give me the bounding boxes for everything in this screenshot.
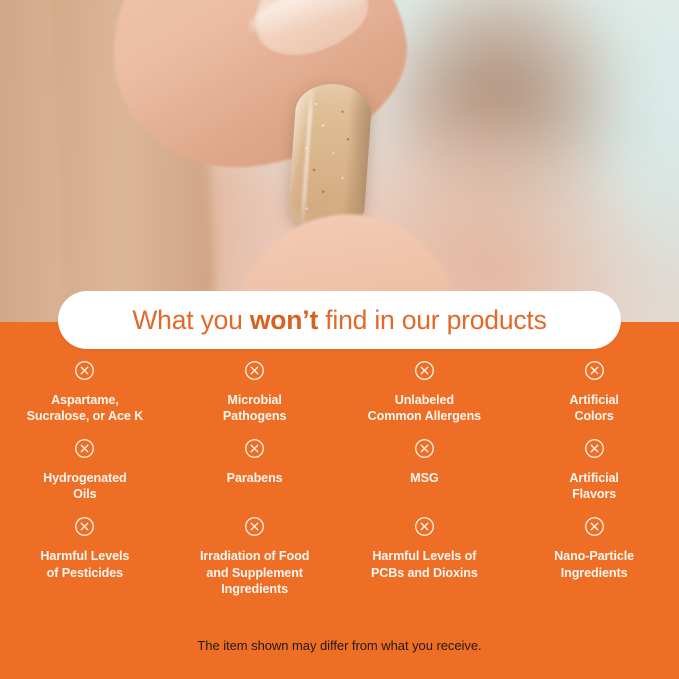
claim-label: Microbial Pathogens	[223, 392, 286, 424]
claim-item: MSG	[340, 438, 510, 502]
claim-label: Harmful Levels of Pesticides	[40, 548, 129, 580]
product-claims-screen: What you won’t find in our products Aspa…	[0, 0, 679, 679]
circle-x-icon	[414, 516, 435, 537]
claim-label: Unlabeled Common Allergens	[368, 392, 481, 424]
circle-x-icon	[74, 360, 95, 381]
claim-item: Microbial Pathogens	[170, 360, 340, 424]
supplement-tablet	[287, 82, 373, 237]
title-banner: What you won’t find in our products	[58, 291, 621, 349]
circle-x-icon	[74, 516, 95, 537]
page-title: What you won’t find in our products	[132, 307, 546, 334]
title-text-emphasis: won’t	[250, 305, 318, 335]
claim-label: MSG	[410, 470, 438, 486]
title-text-trailing: find in our products	[318, 305, 547, 335]
hero-photo	[0, 0, 679, 322]
disclaimer-text: The item shown may differ from what you …	[0, 638, 679, 653]
claim-label: Irradiation of Food and Supplement Ingre…	[200, 548, 309, 596]
circle-x-icon	[584, 360, 605, 381]
title-text-leading: What you	[132, 305, 250, 335]
claim-item: Artificial Flavors	[509, 438, 679, 502]
claim-item: Artificial Colors	[509, 360, 679, 424]
circle-x-icon	[244, 516, 265, 537]
claim-item: Aspartame, Sucralose, or Ace K	[0, 360, 170, 424]
claim-item: Harmful Levels of Pesticides	[0, 516, 170, 596]
circle-x-icon	[584, 438, 605, 459]
claim-label: Artificial Flavors	[569, 470, 618, 502]
claim-label: Parabens	[227, 470, 283, 486]
circle-x-icon	[414, 360, 435, 381]
claim-item: Nano-Particle Ingredients	[509, 516, 679, 596]
claim-label: Artificial Colors	[569, 392, 618, 424]
claim-label: Aspartame, Sucralose, or Ace K	[27, 392, 144, 424]
circle-x-icon	[244, 438, 265, 459]
claim-item: Unlabeled Common Allergens	[340, 360, 510, 424]
claim-label: Harmful Levels of PCBs and Dioxins	[371, 548, 478, 580]
claim-label: Hydrogenated Oils	[43, 470, 126, 502]
claim-label: Nano-Particle Ingredients	[554, 548, 634, 580]
claim-item: Harmful Levels of PCBs and Dioxins	[340, 516, 510, 596]
claim-item: Hydrogenated Oils	[0, 438, 170, 502]
circle-x-icon	[244, 360, 265, 381]
claim-item: Irradiation of Food and Supplement Ingre…	[170, 516, 340, 596]
circle-x-icon	[74, 438, 95, 459]
claims-grid: Aspartame, Sucralose, or Ace K Microbial…	[0, 360, 679, 597]
claim-item: Parabens	[170, 438, 340, 502]
circle-x-icon	[584, 516, 605, 537]
circle-x-icon	[414, 438, 435, 459]
